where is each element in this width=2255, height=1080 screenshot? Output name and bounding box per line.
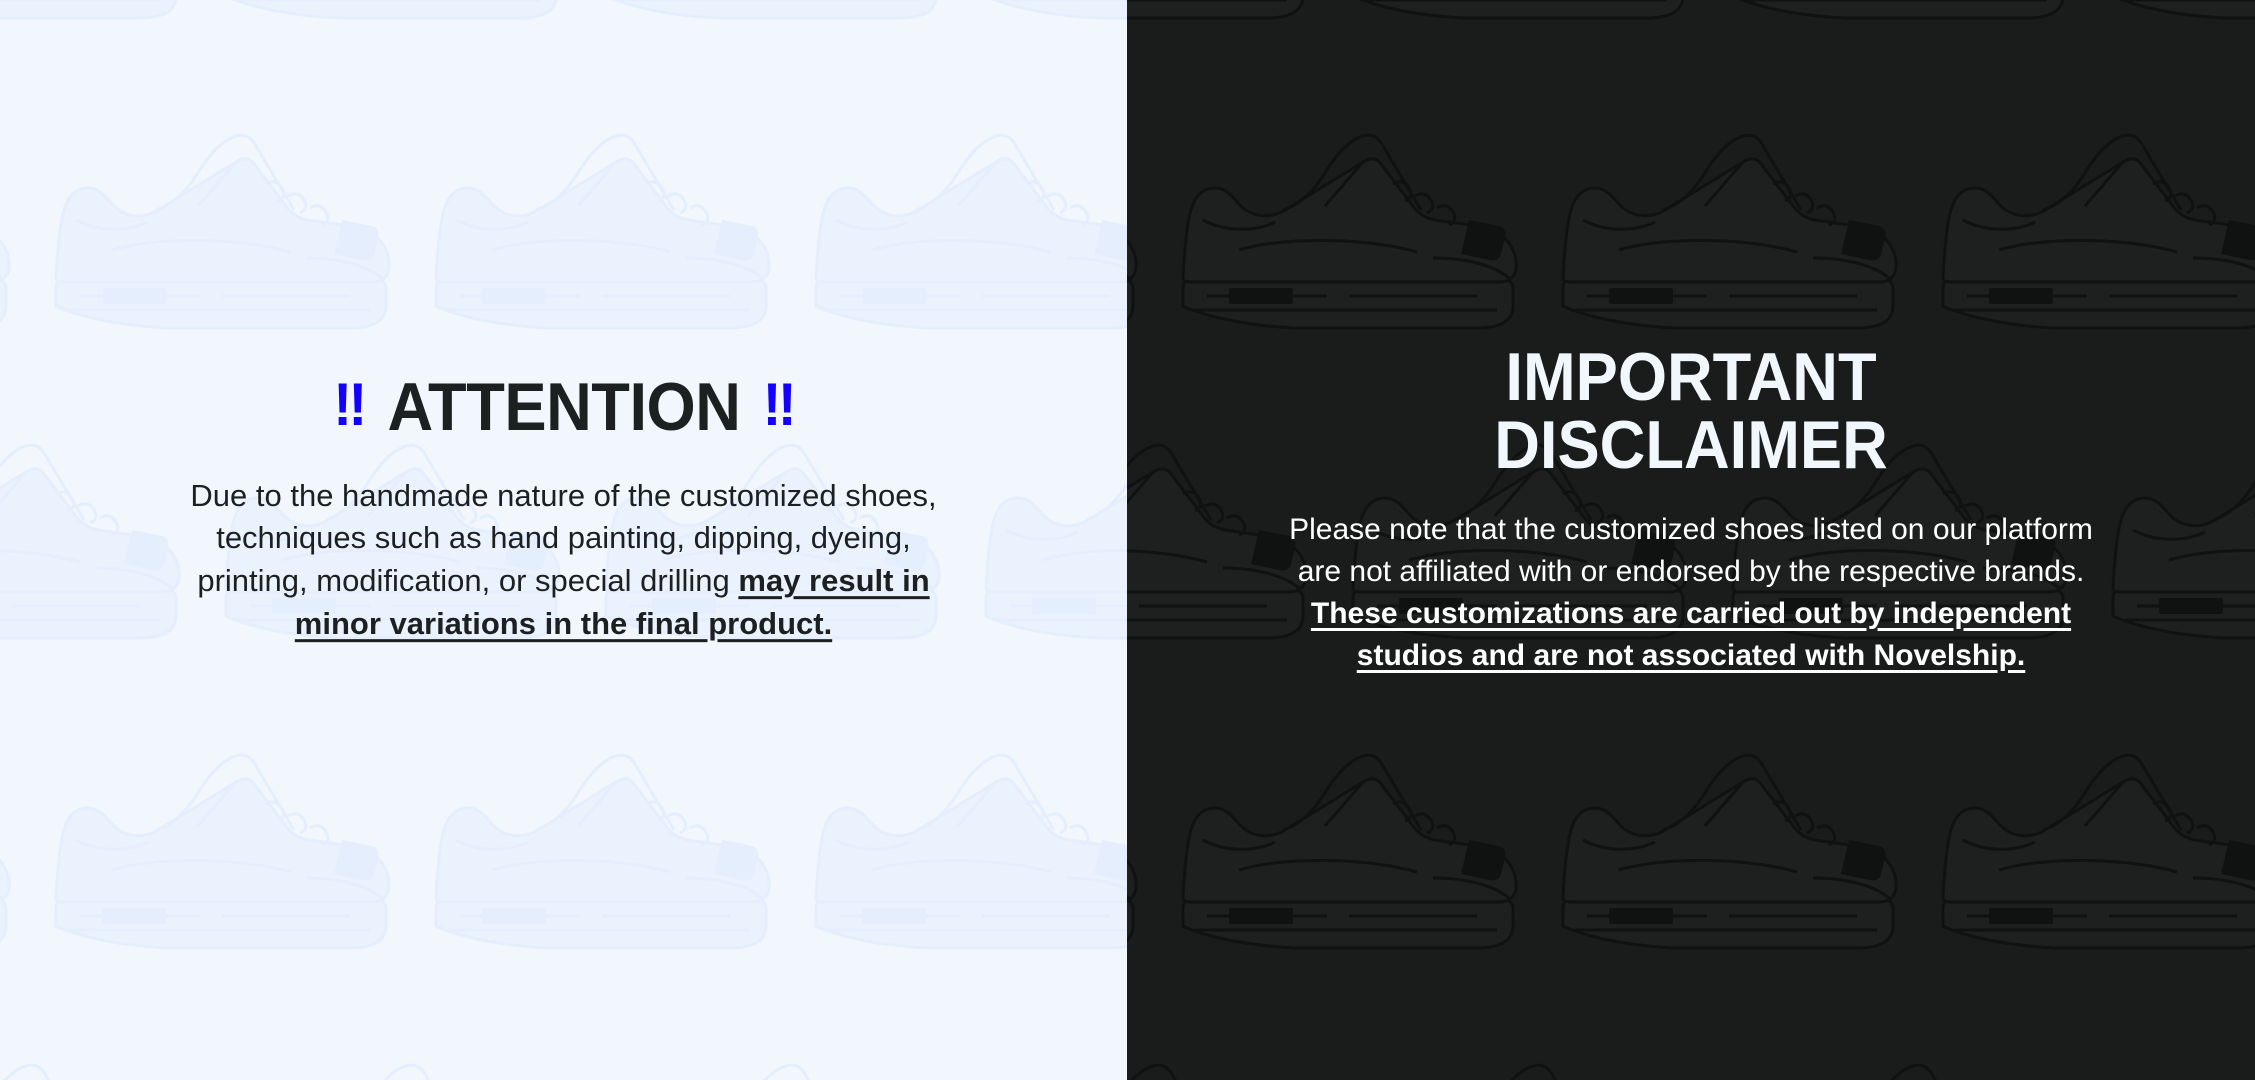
double-exclamation-icon-right: ‼ (762, 375, 794, 435)
disclaimer-heading-line1: IMPORTANT (1300, 343, 2081, 411)
attention-panel: ‼ ATTENTION ‼ Due to the handmade nature… (0, 0, 1127, 1080)
double-exclamation-icon-left: ‼ (333, 375, 365, 435)
disclaimer-panel: IMPORTANT DISCLAIMER Please note that th… (1127, 0, 2255, 1080)
disclaimer-body-emphasis: These customizations are carried out by … (1311, 597, 2071, 672)
attention-heading-text: ATTENTION (387, 374, 740, 441)
attention-content: ‼ ATTENTION ‼ Due to the handmade nature… (164, 374, 964, 646)
attention-body: Due to the handmade nature of the custom… (164, 475, 964, 646)
disclaimer-body-normal: Please note that the customized shoes li… (1289, 513, 2093, 588)
disclaimer-heading-line2: DISCLAIMER (1300, 411, 2081, 479)
disclaimer-heading: IMPORTANT DISCLAIMER (1300, 343, 2081, 479)
promo-banner: ‼ ATTENTION ‼ Due to the handmade nature… (0, 0, 2255, 1080)
disclaimer-body: Please note that the customized shoes li… (1271, 509, 2111, 677)
disclaimer-content: IMPORTANT DISCLAIMER Please note that th… (1271, 343, 2111, 677)
attention-heading: ‼ ATTENTION ‼ (192, 374, 936, 441)
